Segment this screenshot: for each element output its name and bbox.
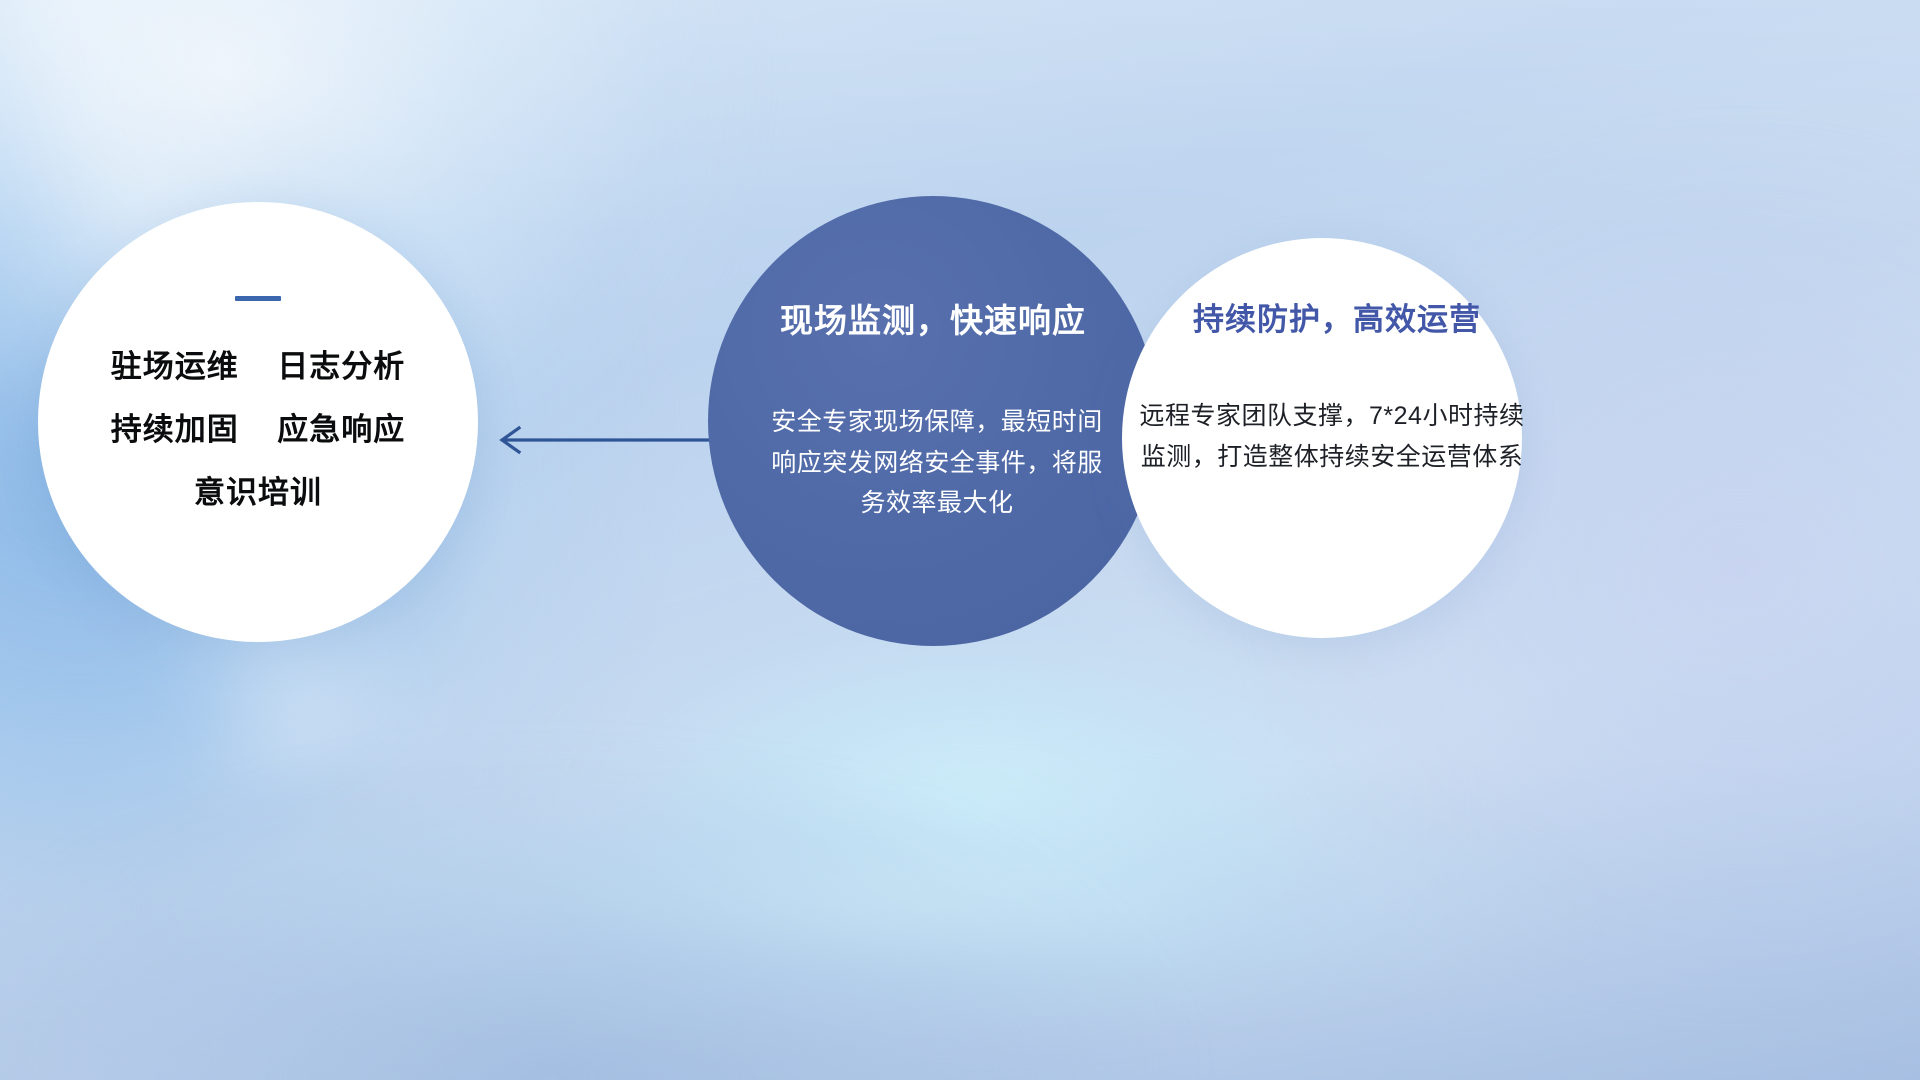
left-circle-content: 驻场运维 日志分析 持续加固 应急响应 意识培训: [38, 296, 478, 508]
middle-circle-body: 安全专家现场保障，最短时间响应突发网络安全事件，将服务效率最大化: [766, 402, 1108, 524]
divider-dash-icon: [235, 296, 281, 301]
right-circle-body: 远程专家团队支撑，7*24小时持续监测，打造整体持续安全运营体系: [1130, 396, 1534, 477]
left-circle-line-2: 持续加固 应急响应: [38, 414, 478, 445]
left-circle-line-1: 驻场运维 日志分析: [38, 351, 478, 382]
left-circle-card[interactable]: 驻场运维 日志分析 持续加固 应急响应 意识培训: [38, 202, 478, 642]
left-circle-line-3: 意识培训: [38, 477, 478, 508]
middle-circle-card[interactable]: 现场监测，快速响应 安全专家现场保障，最短时间响应突发网络安全事件，将服务效率最…: [708, 196, 1158, 646]
diagram-canvas: 驻场运维 日志分析 持续加固 应急响应 意识培训 现场监测，快速响应 安全专家现…: [0, 0, 1920, 1080]
right-circle-title: 持续防护，高效运营: [1122, 294, 1552, 339]
right-circle-card[interactable]: 持续防护，高效运营 远程专家团队支撑，7*24小时持续监测，打造整体持续安全运营…: [1122, 238, 1522, 638]
